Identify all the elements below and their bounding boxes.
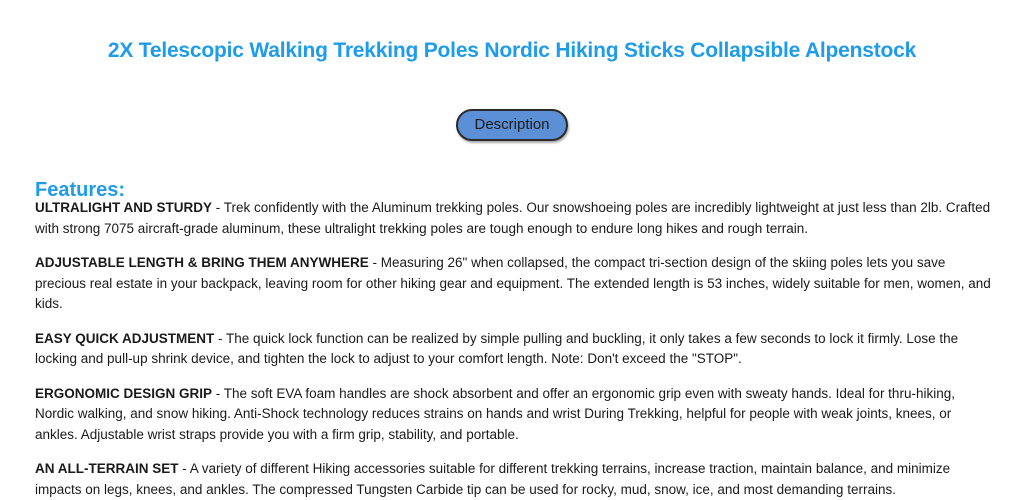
feature-label: ADJUSTABLE LENGTH & BRING THEM ANYWHERE bbox=[35, 255, 369, 270]
tab-description[interactable]: Description bbox=[456, 109, 567, 141]
feature-label: EASY QUICK ADJUSTMENT bbox=[35, 331, 214, 346]
feature-label: ERGONOMIC DESIGN GRIP bbox=[35, 386, 212, 401]
feature-item: AN ALL-TERRAIN SET - A variety of differ… bbox=[35, 459, 991, 500]
feature-label: ULTRALIGHT AND STURDY bbox=[35, 200, 212, 215]
feature-separator: - bbox=[179, 461, 190, 476]
tab-bar: Description bbox=[0, 109, 1024, 141]
features-list: ULTRALIGHT AND STURDY - Trek confidently… bbox=[35, 198, 991, 500]
feature-item: ULTRALIGHT AND STURDY - Trek confidently… bbox=[35, 198, 991, 239]
feature-separator: - bbox=[214, 331, 226, 346]
feature-item: ERGONOMIC DESIGN GRIP - The soft EVA foa… bbox=[35, 384, 991, 446]
feature-label: AN ALL-TERRAIN SET bbox=[35, 461, 179, 476]
feature-separator: - bbox=[369, 255, 381, 270]
page-title: 2X Telescopic Walking Trekking Poles Nor… bbox=[0, 39, 1024, 63]
feature-separator: - bbox=[212, 386, 224, 401]
feature-separator: - bbox=[212, 200, 224, 215]
product-description-page: 2X Telescopic Walking Trekking Poles Nor… bbox=[0, 0, 1024, 462]
feature-item: ADJUSTABLE LENGTH & BRING THEM ANYWHERE … bbox=[35, 253, 991, 315]
feature-item: EASY QUICK ADJUSTMENT - The quick lock f… bbox=[35, 329, 991, 370]
